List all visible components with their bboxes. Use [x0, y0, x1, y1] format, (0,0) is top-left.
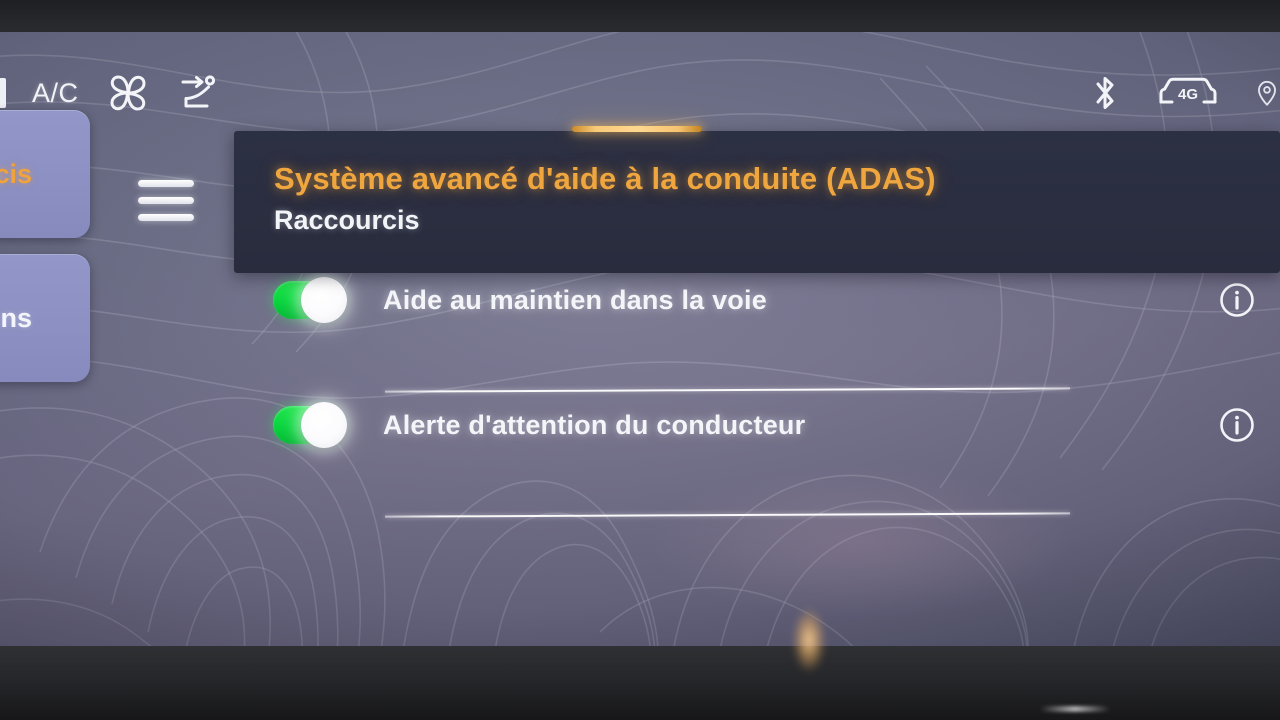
toggle-driver-attention-alert[interactable]: [273, 406, 343, 444]
status-bar-right-group: 4G: [1088, 64, 1280, 122]
page-title: Système avancé d'aide à la conduite (ADA…: [274, 161, 1280, 197]
hamburger-menu-icon[interactable]: [138, 180, 194, 221]
bar-indicator-icon: [0, 78, 6, 108]
settings-row-label: Alerte d'attention du conducteur: [383, 410, 805, 441]
bluetooth-icon[interactable]: [1088, 71, 1122, 115]
settings-row-label: Aide au maintien dans la voie: [383, 285, 767, 316]
ac-label[interactable]: A/C: [32, 78, 79, 109]
bezel-highlight-glint: [1040, 706, 1110, 712]
header-accent-bar: [572, 126, 702, 132]
infotainment-display: A/C: [0, 32, 1280, 648]
toggle-knob: [301, 277, 347, 323]
display-bezel-top: [0, 0, 1280, 32]
toggle-knob: [301, 402, 347, 448]
hamburger-line: [138, 197, 194, 204]
settings-row-lane-keep-assist: Aide au maintien dans la voie: [0, 272, 1280, 328]
info-circle-icon-lane-keep-assist[interactable]: [1216, 279, 1258, 321]
sidebar-item-label: cis: [0, 159, 32, 190]
hamburger-line: [138, 214, 194, 221]
sidebar-rail: cis ns: [0, 110, 90, 382]
airflow-seat-icon[interactable]: [177, 70, 223, 116]
sidebar-item-raccourcis[interactable]: cis: [0, 110, 90, 238]
page-subtitle: Raccourcis: [274, 205, 1280, 236]
infotainment-screenshot: A/C: [0, 0, 1280, 720]
page-header: Système avancé d'aide à la conduite (ADA…: [234, 131, 1280, 273]
status-bar: A/C: [0, 64, 1280, 122]
hamburger-line: [138, 180, 194, 187]
topographic-background: [0, 32, 1280, 648]
fan-icon[interactable]: [105, 70, 151, 116]
car-4g-icon[interactable]: 4G: [1156, 71, 1220, 115]
settings-row-driver-attention-alert: Alerte d'attention du conducteur: [0, 397, 1280, 453]
location-pin-icon[interactable]: [1254, 70, 1280, 116]
car-4g-label: 4G: [1178, 86, 1198, 103]
info-circle-icon-driver-attention-alert[interactable]: [1216, 404, 1258, 446]
toggle-lane-keep-assist[interactable]: [273, 281, 343, 319]
